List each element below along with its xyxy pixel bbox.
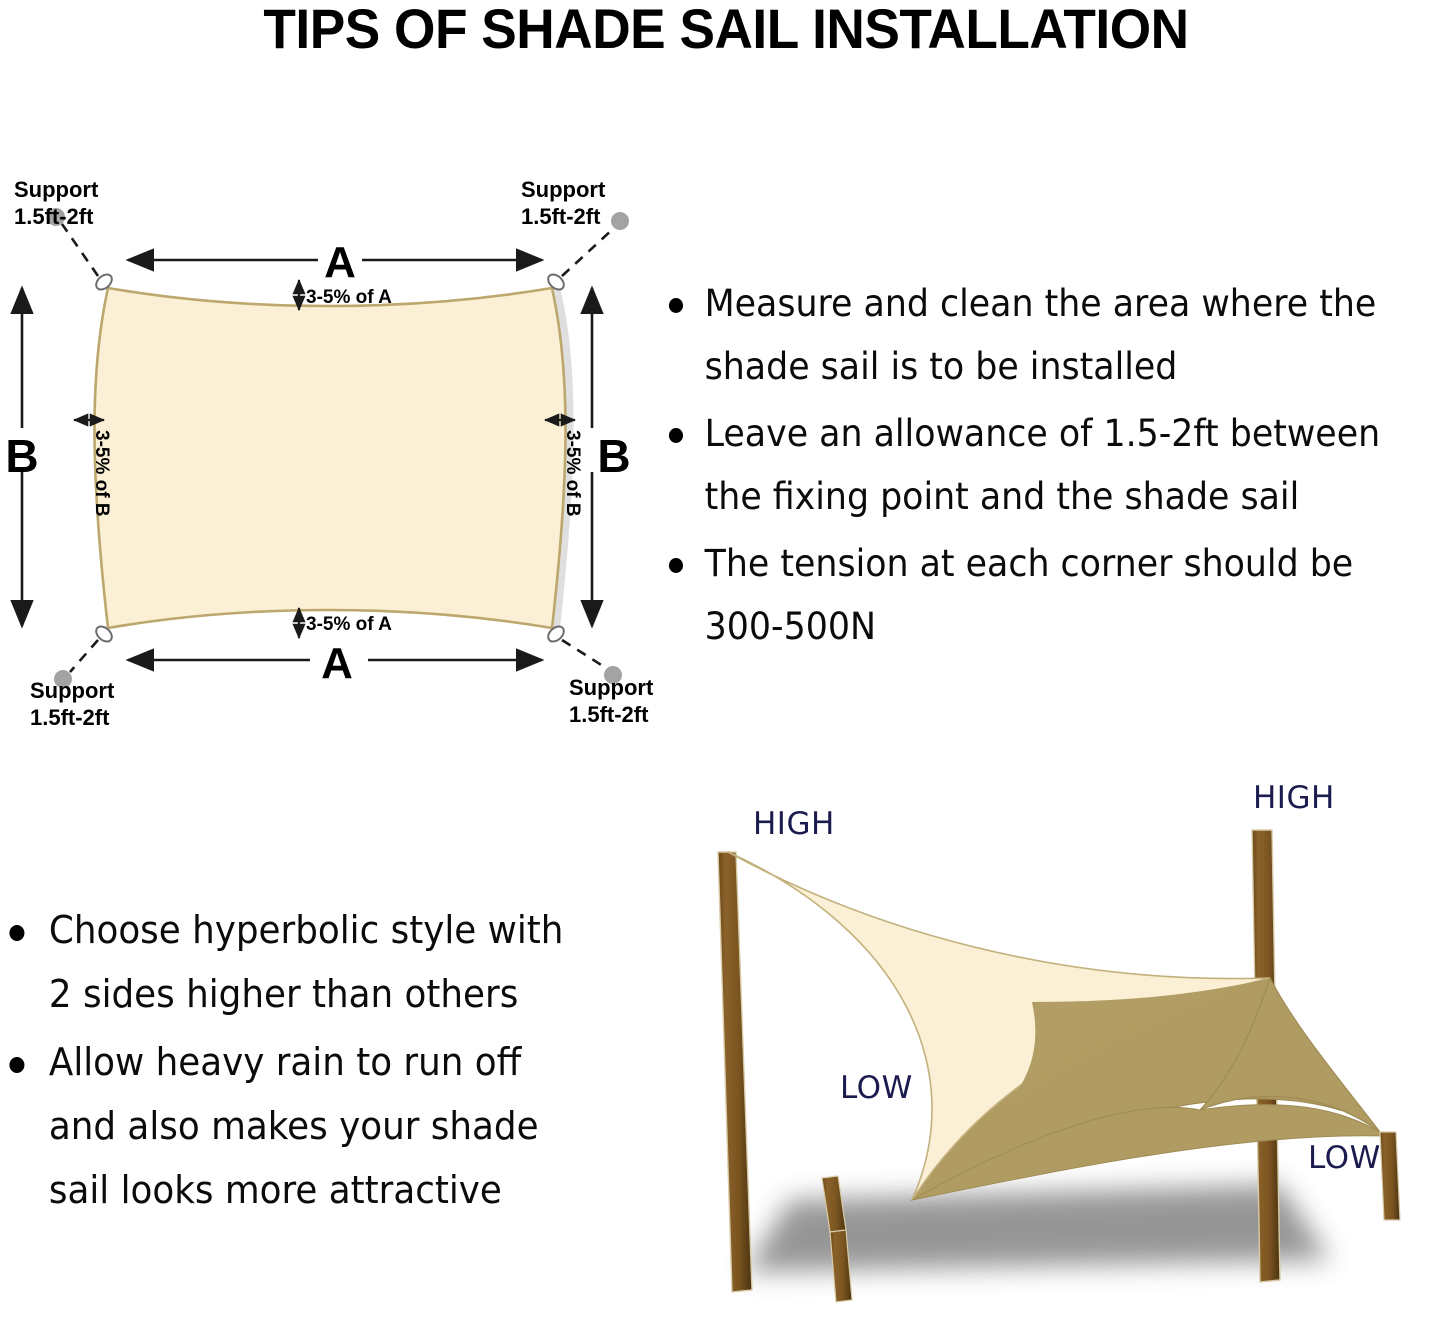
- rectangular-sail-diagram: A A B B 3-5% of A 3-: [0, 160, 660, 740]
- support-label-bottom-left-range: 1.5ft-2ft: [30, 705, 110, 730]
- support-label-top-left-range: 1.5ft-2ft: [14, 204, 94, 229]
- sag-a-top-label: 3-5% of A: [306, 287, 392, 308]
- tip-item: Leave an allowance of 1.5-2ft between th…: [652, 402, 1404, 528]
- pole-low-right: [1380, 1132, 1400, 1220]
- sag-a-bottom-label: 3-5% of A: [306, 614, 392, 635]
- sag-b-left-label: 3-5% of B: [91, 430, 112, 517]
- dimension-a-top-label: A: [324, 238, 356, 287]
- label-high-right: HIGH: [1253, 780, 1335, 816]
- support-label-bottom-left-title: Support: [30, 678, 115, 703]
- label-low-left: LOW: [840, 1070, 913, 1106]
- label-high-left: HIGH: [753, 806, 835, 842]
- tip-item: Measure and clean the area where the sha…: [652, 272, 1404, 398]
- tip-item: The tension at each corner should be 300…: [652, 532, 1404, 658]
- label-low-right: LOW: [1308, 1140, 1381, 1176]
- support-label-bottom-right-title: Support: [569, 675, 654, 700]
- support-label-top-right-range: 1.5ft-2ft: [521, 204, 601, 229]
- tip-item: Allow heavy rain to run off and also mak…: [0, 1030, 592, 1222]
- dimension-b-right-label: B: [597, 430, 630, 482]
- shade-sail-shape: [95, 288, 566, 628]
- pole-high-left: [718, 852, 752, 1292]
- page-title: TIPS OF SHADE SAIL INSTALLATION: [36, 0, 1415, 62]
- dimension-b-left-label: B: [5, 430, 38, 482]
- infographic-page: TIPS OF SHADE SAIL INSTALLATION: [0, 0, 1452, 1325]
- support-label-top-left-title: Support: [14, 177, 99, 202]
- tips-list-installation: Measure and clean the area where the sha…: [652, 272, 1452, 662]
- tip-item: Choose hyperbolic style with 2 sides hig…: [0, 898, 592, 1026]
- hyperbolic-sail-illustration: HIGH HIGH LOW LOW: [640, 780, 1452, 1325]
- sag-b-right-label: 3-5% of B: [562, 430, 583, 517]
- dimension-a-bottom-label: A: [321, 639, 353, 688]
- support-label-top-right-title: Support: [521, 177, 606, 202]
- support-label-bottom-right-range: 1.5ft-2ft: [569, 702, 649, 727]
- tips-list-hyperbolic: Choose hyperbolic style with 2 sides hig…: [0, 898, 630, 1226]
